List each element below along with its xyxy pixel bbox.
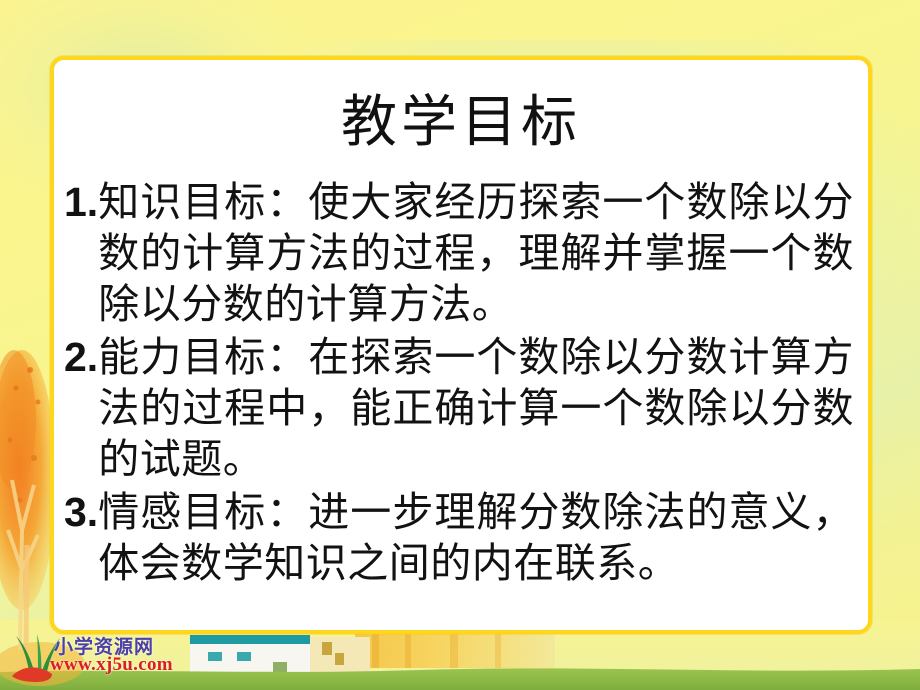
goals-list: 1. 知识目标：使大家经历探索一个数除以分数的计算方法的过程，理解并掌握一个数除… <box>54 177 868 589</box>
watermark-logo: 小学资源网 www.xj5u.com <box>8 626 178 684</box>
list-item-text: 知识目标：使大家经历探索一个数除以分数的计算方法的过程，理解并掌握一个数除以分数… <box>98 177 854 330</box>
autumn-tree-decoration <box>0 330 52 660</box>
list-item-text: 能力目标：在探索一个数除以分数计算方法的过程中，能正确计算一个数除以分数的试题。 <box>98 332 854 485</box>
list-item-number: 3. <box>60 487 98 538</box>
list-item-text: 情感目标：进一步理解分数除法的意义，体会数学知识之间的内在联系。 <box>98 487 854 589</box>
page-title: 教学目标 <box>54 94 868 153</box>
list-item: 2. 能力目标：在探索一个数除以分数计算方法的过程中，能正确计算一个数除以分数的… <box>60 332 854 485</box>
watermark-url: www.xj5u.com <box>50 654 173 676</box>
leaf-icon <box>8 632 66 684</box>
list-item: 1. 知识目标：使大家经历探索一个数除以分数的计算方法的过程，理解并掌握一个数除… <box>60 177 854 330</box>
watermark-site-name: 小学资源网 <box>54 632 154 659</box>
list-item-number: 2. <box>60 332 98 383</box>
slide-canvas: 教学目标 1. 知识目标：使大家经历探索一个数除以分数的计算方法的过程，理解并掌… <box>0 0 920 690</box>
content-card: 教学目标 1. 知识目标：使大家经历探索一个数除以分数的计算方法的过程，理解并掌… <box>50 56 872 634</box>
list-item-number: 1. <box>60 177 98 228</box>
list-item: 3. 情感目标：进一步理解分数除法的意义，体会数学知识之间的内在联系。 <box>60 487 854 589</box>
